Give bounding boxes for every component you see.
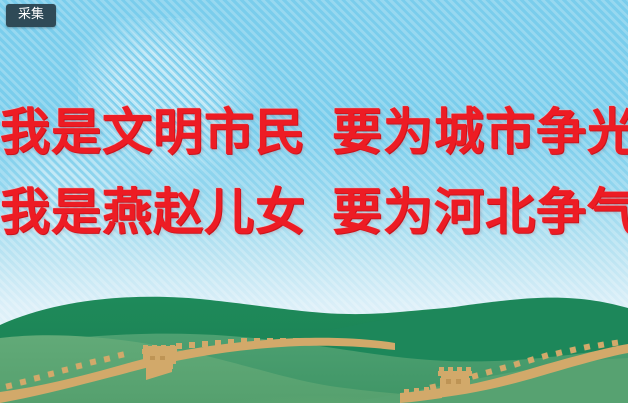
slogan-line-2: 我是燕赵儿女要为河北争气 (0, 172, 628, 252)
slogan-text-block: 我是文明市民要为城市争光 我是燕赵儿女要为河北争气 (0, 92, 628, 252)
slogan-line-1: 我是文明市民要为城市争光 (0, 92, 628, 172)
capture-button[interactable]: 采集 (6, 4, 56, 27)
slogan-line-2-left: 我是燕赵儿女 (0, 183, 306, 241)
slogan-line-1-left: 我是文明市民 (0, 103, 306, 161)
watchtower-right (438, 367, 472, 396)
slogan-line-1-right: 要为城市争光 (332, 103, 628, 161)
slogan-banner-image: 我是文明市民要为城市争光 我是燕赵儿女要为河北争气 采集 (0, 0, 628, 403)
slogan-line-2-right: 要为河北争气 (332, 183, 628, 241)
